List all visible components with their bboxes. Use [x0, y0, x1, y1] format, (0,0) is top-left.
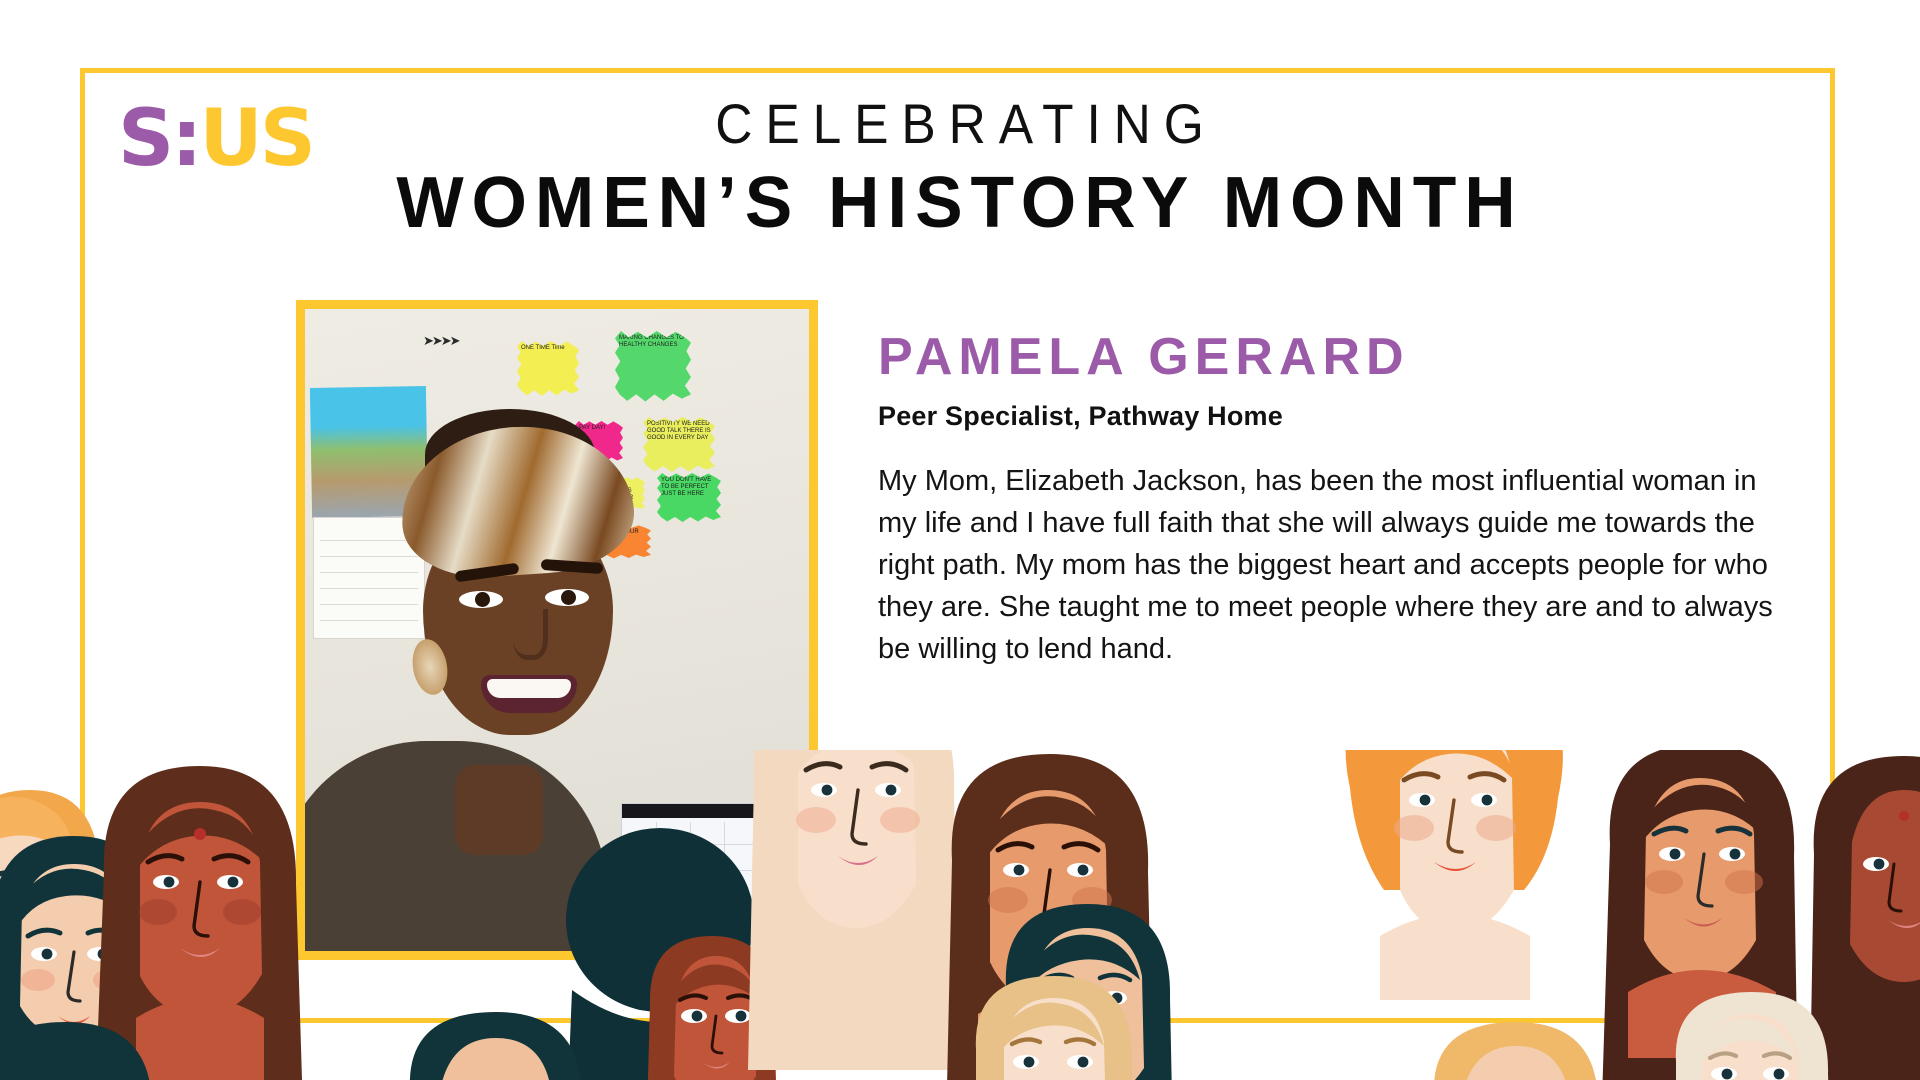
sticky-note: ONE TIME Time — [517, 341, 579, 397]
woman-portrait — [1434, 1022, 1602, 1080]
portrait-nose — [513, 609, 548, 660]
person-role: Peer Specialist, Pathway Home — [878, 401, 1798, 432]
poster-canvas: S:US CELEBRATING WOMEN’S HISTORY MONTH — [0, 0, 1920, 1080]
sticky-note: MAKING CHANGES TO HEALTHY CHANGES — [615, 331, 691, 403]
logo-colon: : — [171, 94, 199, 184]
wall-calendar-large — [621, 803, 809, 951]
portrait-neck — [455, 765, 543, 855]
sticky-note: YOU DON'T HAVE TO BE PERFECT JUST BE HER… — [657, 473, 721, 523]
feature-bio: PAMELA GERARD Peer Specialist, Pathway H… — [878, 330, 1798, 670]
portrait-eye-right — [545, 589, 589, 606]
person-quote: My Mom, Elizabeth Jackson, has been the … — [878, 460, 1778, 670]
wall-arrow-decal: ➤➤➤➤ — [423, 333, 459, 349]
sticky-note: POSITIVITY WE NEED GOOD TALK THERE IS GO… — [643, 417, 715, 473]
portrait-smile — [481, 675, 577, 713]
logo-letters-us: US — [199, 94, 313, 184]
feature-photo: ➤➤➤➤ ONE TIME Time MAKING CHANGES TO HEA… — [305, 309, 809, 951]
person-name: PAMELA GERARD — [878, 330, 1798, 385]
portrait-eye-left — [459, 591, 503, 608]
feature-photo-frame: ➤➤➤➤ ONE TIME Time MAKING CHANGES TO HEA… — [296, 300, 818, 960]
sus-logo[interactable]: S:US — [118, 100, 313, 178]
header-eyebrow: CELEBRATING — [88, 95, 1843, 154]
logo-letter-s: S — [118, 94, 171, 184]
woman-portrait — [0, 1022, 156, 1080]
